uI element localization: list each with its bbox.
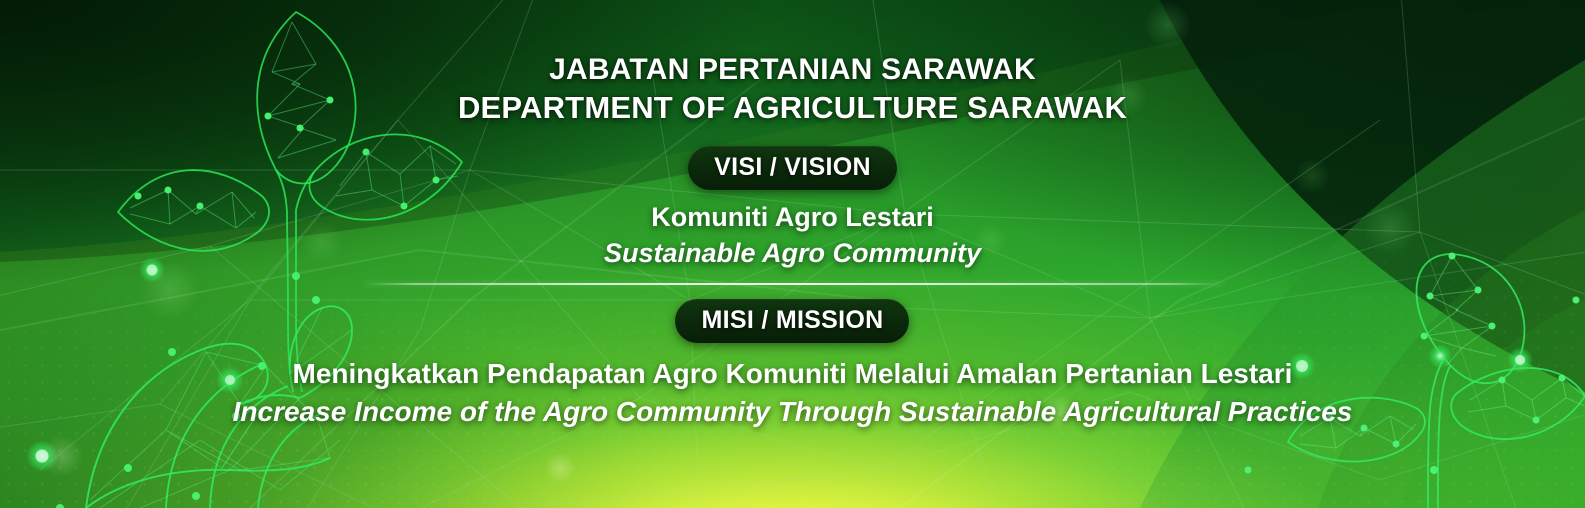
vision-section: VISI / VISION Komuniti Agro Lestari Sust… [604,126,981,269]
vision-statement-malay: Komuniti Agro Lestari [604,202,981,233]
mission-section: MISI / MISSION Meningkatkan Pendapatan A… [233,289,1353,428]
organisation-title: JABATAN PERTANIAN SARAWAK DEPARTMENT OF … [458,52,1127,126]
vision-statement-english: Sustainable Agro Community [604,238,981,269]
mission-statement-malay: Meningkatkan Pendapatan Agro Komuniti Me… [233,358,1353,390]
title-malay: JABATAN PERTANIAN SARAWAK [458,52,1127,89]
section-divider [363,283,1223,285]
vision-badge: VISI / VISION [688,146,897,190]
banner-content: JABATAN PERTANIAN SARAWAK DEPARTMENT OF … [0,0,1585,508]
mission-badge: MISI / MISSION [675,299,909,343]
vision-mission-banner: JABATAN PERTANIAN SARAWAK DEPARTMENT OF … [0,0,1585,508]
title-english: DEPARTMENT OF AGRICULTURE SARAWAK [458,89,1127,127]
mission-statement-english: Increase Income of the Agro Community Th… [233,396,1353,428]
